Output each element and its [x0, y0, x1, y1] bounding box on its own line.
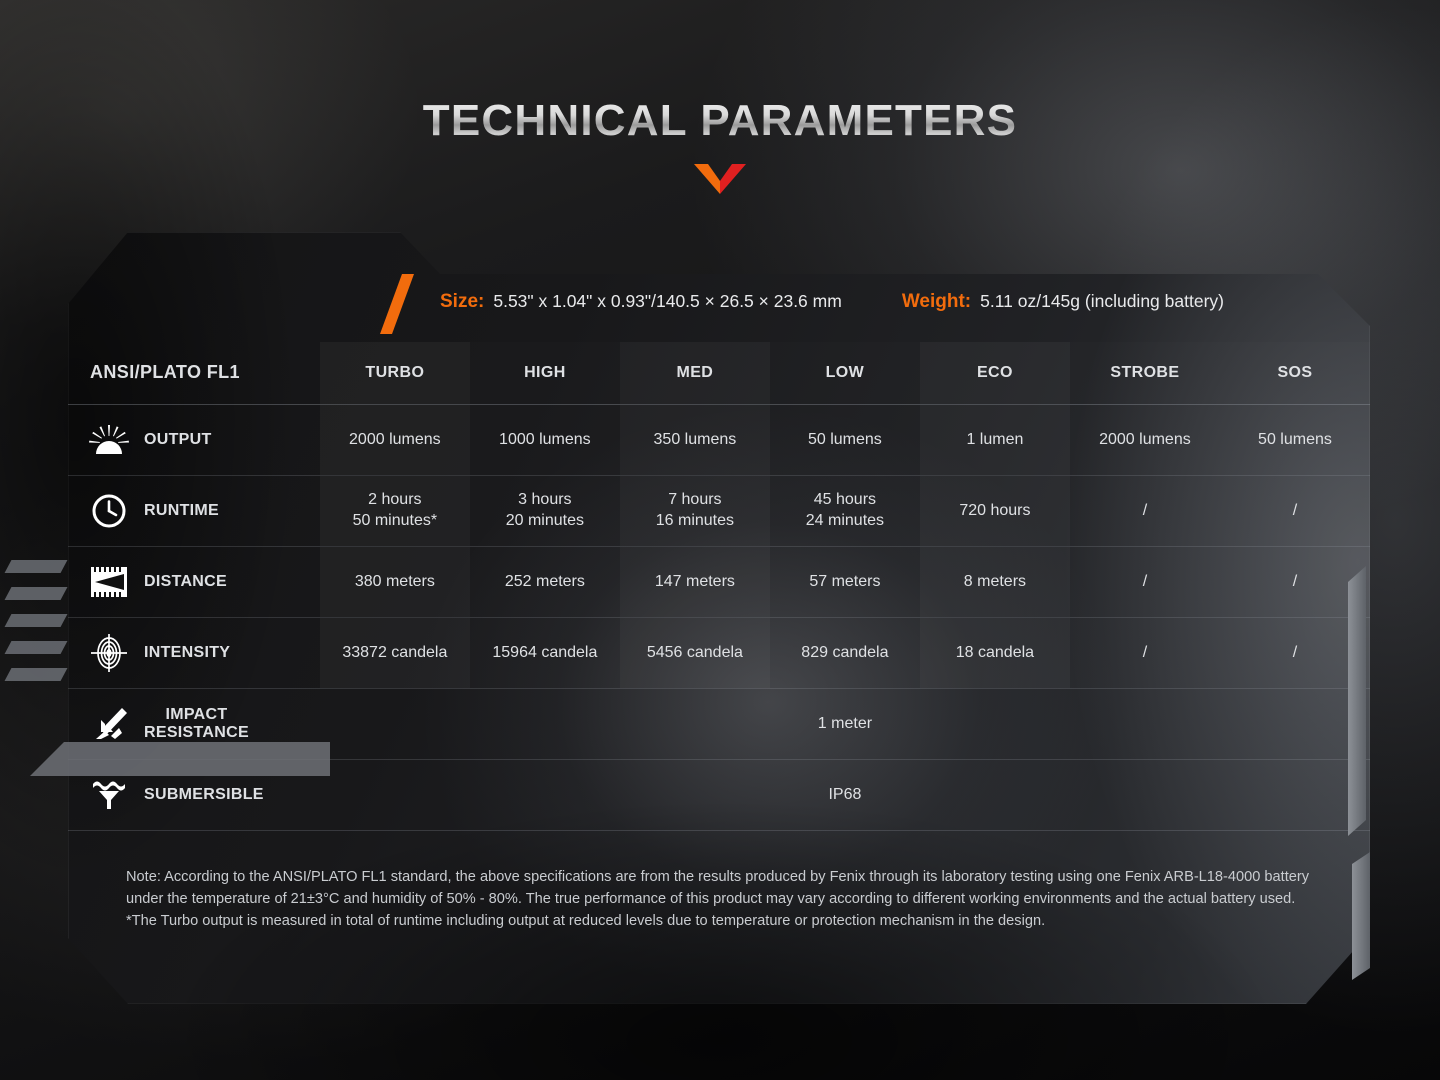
impact-arrow-icon	[88, 704, 130, 744]
cell-output-turbo: 2000 lumens	[320, 404, 470, 475]
cell-runtime-low: 45 hours 24 minutes	[770, 475, 920, 546]
chevron-down-icon	[694, 164, 746, 194]
cell-distance-eco: 8 meters	[920, 546, 1070, 617]
clock-icon	[88, 491, 130, 531]
water-drop-icon	[88, 775, 130, 815]
footnote: Note: According to the ANSI/PLATO FL1 st…	[126, 866, 1322, 933]
header-standard: ANSI/PLATO FL1	[68, 342, 320, 404]
decorative-left-stripes	[8, 560, 68, 750]
cell-impact-resistance-value: 1 meter	[320, 688, 1370, 759]
row-label-intensity: INTENSITY	[68, 617, 320, 688]
cell-runtime-eco: 720 hours	[920, 475, 1070, 546]
cell-submersible-value: IP68	[320, 759, 1370, 830]
cell-runtime-high: 3 hours 20 minutes	[470, 475, 620, 546]
cell-runtime-sos: /	[1220, 475, 1370, 546]
cell-runtime-med: 7 hours 16 minutes	[620, 475, 770, 546]
page-title: TECHNICAL PARAMETERS	[0, 96, 1440, 146]
cell-output-med: 350 lumens	[620, 404, 770, 475]
value-line-1: 45 hours	[770, 490, 920, 510]
cell-distance-strobe: /	[1070, 546, 1220, 617]
weight-group: Weight: 5.11 oz/145g (including battery)	[902, 291, 1224, 313]
footnote-line-2: *The Turbo output is measured in total o…	[126, 910, 1322, 932]
header-mode-turbo: TURBO	[320, 342, 470, 404]
sunburst-icon	[88, 420, 130, 460]
cell-intensity-med: 5456 candela	[620, 617, 770, 688]
value-line-2: 20 minutes	[470, 511, 620, 531]
value-line-2: 16 minutes	[620, 511, 770, 531]
cell-distance-med: 147 meters	[620, 546, 770, 617]
cell-intensity-sos: /	[1220, 617, 1370, 688]
header-mode-eco: ECO	[920, 342, 1070, 404]
size-value: 5.53" x 1.04" x 0.93"/140.5 × 26.5 × 23.…	[493, 291, 841, 312]
cell-output-low: 50 lumens	[770, 404, 920, 475]
cell-output-high: 1000 lumens	[470, 404, 620, 475]
size-weight-strip: Size: 5.53" x 1.04" x 0.93"/140.5 × 26.5…	[440, 274, 1370, 330]
table-row-output: OUTPUT 2000 lumens 1000 lumens 350 lumen…	[68, 404, 1370, 475]
row-label-text: IMPACT RESISTANCE	[144, 706, 249, 742]
footnote-line-1: Note: According to the ANSI/PLATO FL1 st…	[126, 866, 1322, 910]
header-mode-sos: SOS	[1220, 342, 1370, 404]
table-row-intensity: INTENSITY 33872 candela 15964 candela 54…	[68, 617, 1370, 688]
table-row-distance: DISTANCE 380 meters 252 meters 147 meter…	[68, 546, 1370, 617]
header-mode-med: MED	[620, 342, 770, 404]
page-background: TECHNICAL PARAMETERS Size: 5.53" x 1.04"…	[0, 0, 1440, 1080]
row-label-distance: DISTANCE	[68, 546, 320, 617]
beam-distance-icon	[88, 562, 130, 602]
header-mode-strobe: STROBE	[1070, 342, 1220, 404]
cell-intensity-eco: 18 candela	[920, 617, 1070, 688]
cell-distance-low: 57 meters	[770, 546, 920, 617]
row-label-text: OUTPUT	[144, 431, 212, 449]
row-label-runtime: RUNTIME	[68, 475, 320, 546]
decorative-bottom-bar	[30, 742, 330, 776]
row-label-output: OUTPUT	[68, 404, 320, 475]
size-label: Size:	[440, 291, 484, 313]
weight-label: Weight:	[902, 291, 971, 313]
header-mode-high: HIGH	[470, 342, 620, 404]
value-line-1: 2 hours	[320, 490, 470, 510]
cell-distance-high: 252 meters	[470, 546, 620, 617]
row-label-text: DISTANCE	[144, 573, 227, 591]
cell-intensity-high: 15964 candela	[470, 617, 620, 688]
target-intensity-icon	[88, 633, 130, 673]
cell-distance-turbo: 380 meters	[320, 546, 470, 617]
decorative-right-bar-bottom	[1352, 852, 1370, 980]
value-line-2: 24 minutes	[770, 511, 920, 531]
decorative-right-bar-top	[1348, 566, 1366, 836]
cell-output-strobe: 2000 lumens	[1070, 404, 1220, 475]
cell-runtime-turbo: 2 hours 50 minutes*	[320, 475, 470, 546]
cell-output-sos: 50 lumens	[1220, 404, 1370, 475]
spec-panel: Size: 5.53" x 1.04" x 0.93"/140.5 × 26.5…	[68, 232, 1370, 1004]
impact-line-2: RESISTANCE	[144, 724, 249, 741]
value-line-1: 7 hours	[620, 490, 770, 510]
table-row-runtime: RUNTIME 2 hours 50 minutes* 3 hours	[68, 475, 1370, 546]
cell-intensity-turbo: 33872 candela	[320, 617, 470, 688]
cell-runtime-strobe: /	[1070, 475, 1220, 546]
row-label-text: RUNTIME	[144, 502, 219, 520]
cell-intensity-strobe: /	[1070, 617, 1220, 688]
header-mode-low: LOW	[770, 342, 920, 404]
cell-output-eco: 1 lumen	[920, 404, 1070, 475]
cell-distance-sos: /	[1220, 546, 1370, 617]
row-label-text: SUBMERSIBLE	[144, 786, 264, 804]
header-row: ANSI/PLATO FL1 TURBO HIGH MED LOW ECO ST…	[68, 342, 1370, 404]
size-group: Size: 5.53" x 1.04" x 0.93"/140.5 × 26.5…	[440, 291, 842, 313]
value-line-1: 3 hours	[470, 490, 620, 510]
row-label-text: INTENSITY	[144, 644, 230, 662]
weight-value: 5.11 oz/145g (including battery)	[980, 291, 1224, 312]
cell-intensity-low: 829 candela	[770, 617, 920, 688]
value-line-2: 50 minutes*	[320, 511, 470, 531]
title-section: TECHNICAL PARAMETERS	[0, 96, 1440, 194]
table-header: ANSI/PLATO FL1 TURBO HIGH MED LOW ECO ST…	[68, 342, 1370, 404]
impact-line-1: IMPACT	[165, 706, 227, 723]
